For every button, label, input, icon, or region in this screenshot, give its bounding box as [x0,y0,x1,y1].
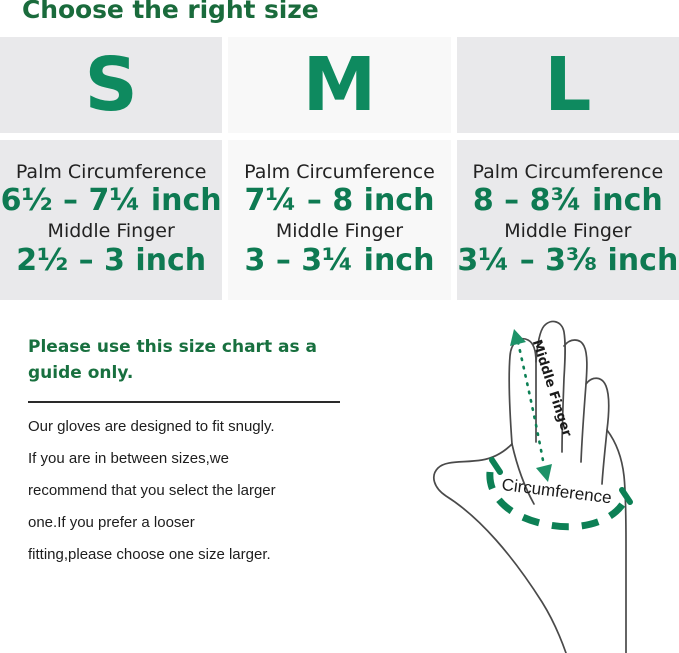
size-spec-box-l: Palm Circumference 8 – 8¾ inch Middle Fi… [457,140,679,300]
size-spec-box-m: Palm Circumference 7¼ – 8 inch Middle Fi… [228,140,450,300]
note-line: Our gloves are designed to fit snugly. [28,415,358,439]
palm-circumference-label-m: Palm Circumference [244,162,435,184]
size-spec-box-s: Palm Circumference 6½ – 7¼ inch Middle F… [0,140,222,300]
size-letter-l: L [544,48,591,122]
middle-finger-value-m: 3 – 3¼ inch [245,244,435,278]
size-letter-s: S [85,48,138,122]
middle-finger-label-s: Middle Finger [48,221,175,243]
size-letter-box-l: L [457,37,679,133]
middle-finger-label-m: Middle Finger [276,221,403,243]
palm-circumference-value-s: 6½ – 7¼ inch [1,184,222,218]
note-heading: Please use this size chart as a guide on… [28,334,358,387]
ring-finger-outline [564,340,587,462]
size-letter-box-m: M [228,37,450,133]
finger-arrow-head-top [510,329,526,346]
size-letter-box-s: S [0,37,222,133]
pinky-finger-outline [586,378,609,484]
note-line: fitting,please choose one size larger. [28,543,358,567]
size-column-s: S Palm Circumference 6½ – 7¼ inch Middle… [0,37,222,300]
hand-right-edge [607,430,626,653]
middle-finger-label-l: Middle Finger [504,221,631,243]
size-column-l: L Palm Circumference 8 – 8¾ inch Middle … [457,37,679,300]
size-chart-columns: S Palm Circumference 6½ – 7¼ inch Middle… [0,37,679,300]
note-line: one.If you prefer a looser [28,511,358,535]
note-line: If you are in between sizes,we [28,447,358,471]
palm-circumference-label-s: Palm Circumference [16,162,207,184]
middle-finger-value-l: 3¼ – 3⅜ inch [457,244,678,278]
page-title: Choose the right size [22,0,319,24]
middle-finger-value-s: 2½ – 3 inch [16,244,206,278]
palm-circumference-value-l: 8 – 8¾ inch [473,184,663,218]
guidance-note: Please use this size chart as a guide on… [28,334,358,575]
size-column-m: M Palm Circumference 7¼ – 8 inch Middle … [228,37,450,300]
note-divider [28,401,340,403]
note-line: recommend that you select the larger [28,479,358,503]
size-letter-m: M [303,48,377,122]
palm-circumference-value-m: 7¼ – 8 inch [245,184,435,218]
palm-circumference-label-l: Palm Circumference [472,162,663,184]
note-body: Our gloves are designed to fit snugly. I… [28,415,358,567]
